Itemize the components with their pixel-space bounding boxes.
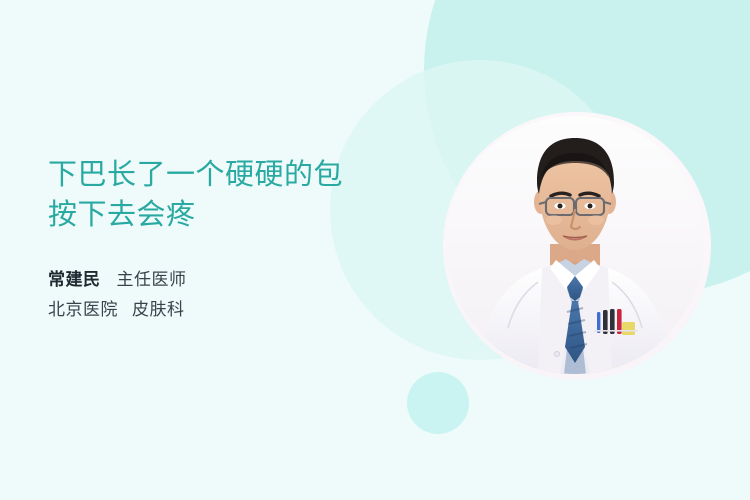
- doctor-portrait-illustration: [446, 116, 704, 374]
- doctor-hospital: 北京医院: [48, 300, 118, 319]
- text-column: 下巴长了一个硬硬的包 按下去会疼 常建民主任医师 北京医院皮肤科: [48, 155, 428, 325]
- decorative-small-cyan-circle: [407, 372, 469, 434]
- doctor-title: 主任医师: [117, 270, 187, 289]
- doctor-name: 常建民: [48, 270, 101, 289]
- doctor-avatar: [446, 116, 704, 374]
- doctor-department: 皮肤科: [132, 300, 185, 319]
- page-title: 下巴长了一个硬硬的包 按下去会疼: [48, 155, 428, 235]
- doctor-science-card: 下巴长了一个硬硬的包 按下去会疼 常建民主任医师 北京医院皮肤科: [0, 0, 750, 500]
- doctor-affiliation: 北京医院皮肤科: [48, 295, 428, 325]
- doctor-byline: 常建民主任医师: [48, 265, 428, 295]
